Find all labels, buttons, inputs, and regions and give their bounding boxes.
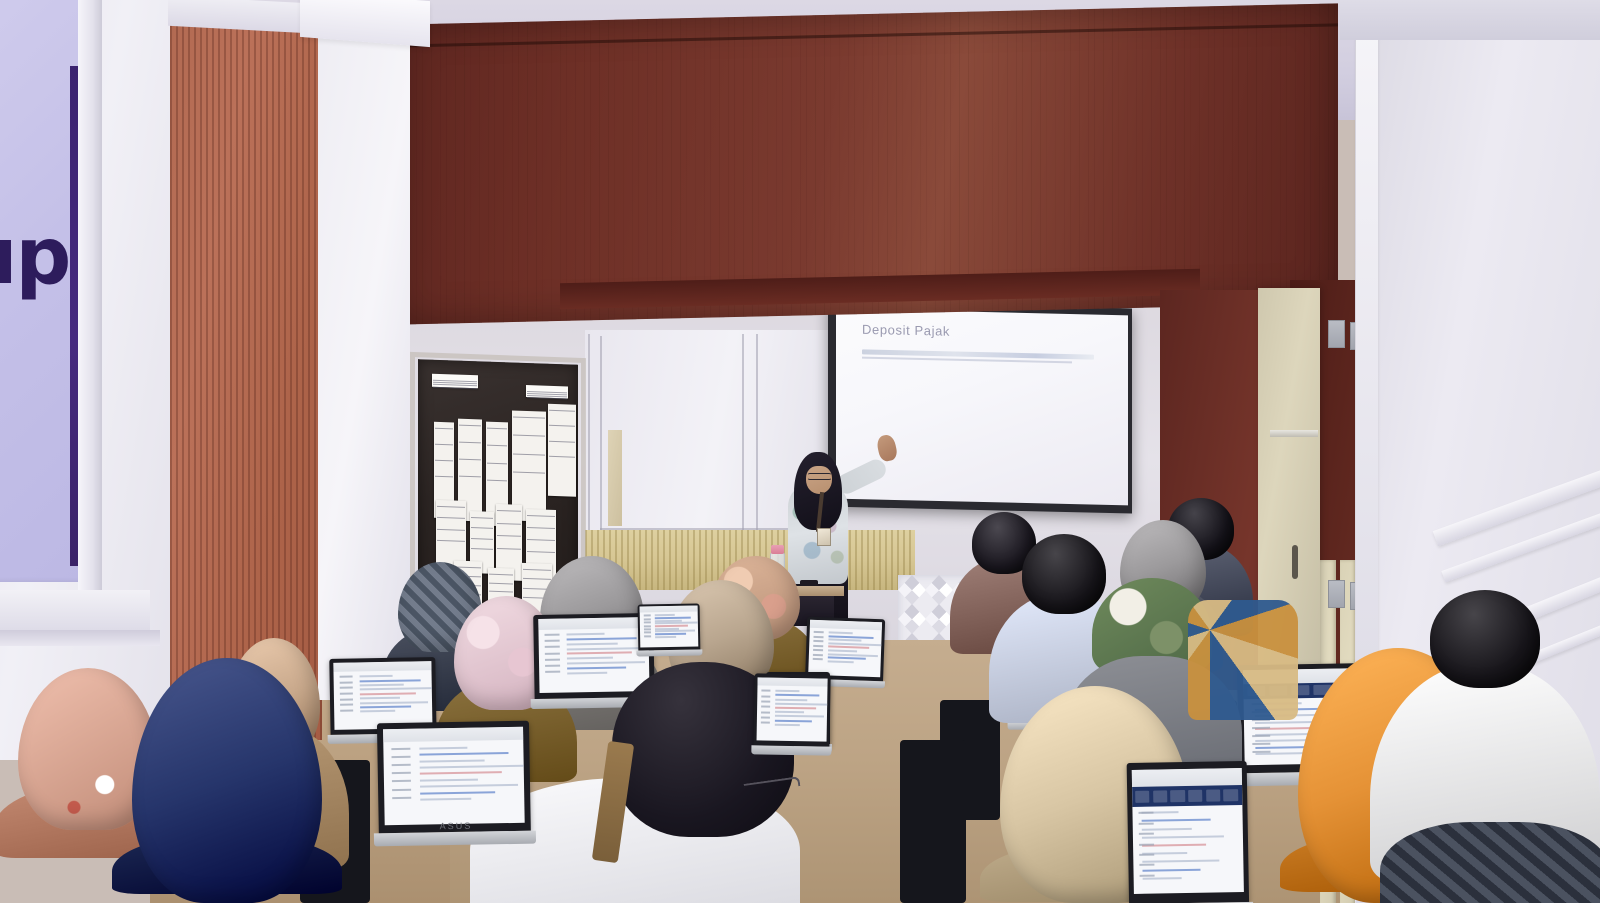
wood-grain (710, 18, 711, 318)
wood-grain (440, 24, 441, 324)
screen-text-line (360, 701, 428, 704)
screen-label-line (1139, 822, 1153, 824)
slat-groove (242, 20, 244, 740)
screen-text-line (421, 791, 495, 794)
screen-label-line (813, 654, 822, 656)
wall-strip (608, 430, 622, 526)
screen-text-line (420, 765, 524, 769)
wood-grain (518, 22, 519, 322)
browser-toolbar (538, 617, 649, 629)
slat-groove (272, 20, 274, 740)
wood-grain (944, 12, 945, 312)
navbar-tile[interactable] (1188, 790, 1203, 803)
screen-label-line (814, 635, 823, 637)
browser-toolbar (810, 620, 882, 630)
screen-label-line (1139, 843, 1153, 845)
wood-grain (1262, 5, 1263, 305)
screen-label-line (814, 631, 823, 633)
wood-grain (614, 20, 615, 320)
laptop-base[interactable] (751, 745, 832, 755)
wood-grain (1334, 3, 1335, 303)
wood-grain (1055, 10, 1056, 310)
wood-grain (752, 17, 753, 317)
participant-blue-shirt (1022, 534, 1106, 614)
wood-grain (542, 21, 543, 321)
screen-text-line (1142, 860, 1219, 863)
screen-label-line (545, 646, 559, 648)
slat-wall (170, 20, 322, 740)
wood-grain (422, 24, 423, 324)
browser-toolbar (640, 606, 697, 613)
screen-label-line (1140, 864, 1154, 866)
wood-grain (695, 18, 696, 318)
chair-back (900, 740, 966, 903)
wainscot-rib (687, 530, 689, 590)
screen-label-line (545, 658, 559, 660)
wood-grain (950, 12, 951, 312)
wood-grain (1238, 6, 1239, 306)
slat-groove (308, 20, 310, 740)
slat-groove (206, 20, 208, 740)
screen-text-line (775, 703, 827, 706)
screen-text-line (776, 694, 820, 697)
screen-label-line (1140, 854, 1154, 856)
screen-text-line (420, 747, 468, 750)
wood-grain (1232, 6, 1233, 306)
laptop-screen[interactable] (640, 606, 698, 647)
screen-label-line (761, 722, 770, 724)
app-navbar[interactable] (1132, 785, 1243, 807)
wainscot-rib (693, 530, 695, 590)
wood-grain (800, 16, 801, 316)
wood-grain (1127, 8, 1128, 308)
texture-diamond (925, 575, 953, 605)
screen-text-line (568, 667, 627, 670)
laptop-screen[interactable] (538, 617, 650, 693)
wood-grain (623, 20, 624, 320)
wood-grain (1112, 8, 1113, 308)
wood-grain (527, 22, 528, 322)
wood-grain (887, 14, 888, 314)
wainscot-rib (681, 530, 683, 590)
wainscot-rib (663, 530, 665, 590)
screen-label-line (761, 711, 770, 713)
screen-label-line (762, 695, 771, 697)
laptop[interactable] (1127, 761, 1250, 903)
slat-groove (266, 20, 268, 740)
partition-handle[interactable] (1292, 545, 1298, 579)
wood-grain (647, 19, 648, 319)
wood-grain (728, 17, 729, 317)
wood-grain (1328, 4, 1329, 304)
slat-groove (302, 20, 304, 740)
panel-line (600, 336, 602, 534)
participant-batik-blue (1188, 600, 1298, 720)
screen-label-line (340, 693, 353, 695)
wood-grain (575, 21, 576, 321)
wood-grain (839, 15, 840, 315)
wood-grain (479, 23, 480, 323)
screen-text-line (828, 639, 861, 642)
partition-trim (1270, 430, 1318, 437)
laptop-base[interactable] (636, 649, 702, 656)
wood-grain (656, 19, 657, 319)
wood-grain (1214, 6, 1215, 306)
screen-text-line (775, 711, 804, 713)
wood-grain (662, 19, 663, 319)
participant-batik-foreground (1380, 822, 1600, 903)
wood-grain (671, 18, 672, 318)
wood-grain (1007, 11, 1008, 311)
laptop-screen[interactable] (808, 620, 882, 677)
wood-grain (911, 13, 912, 313)
wood-grain (686, 18, 687, 318)
screen-label-line (1252, 726, 1270, 728)
wainscot-rib (657, 530, 659, 590)
wood-grain (1319, 4, 1320, 304)
wood-grain (848, 14, 849, 314)
screen-label-line (813, 658, 822, 660)
wood-grain (488, 23, 489, 323)
wood-grain (446, 24, 447, 324)
wood-grain (1118, 8, 1119, 308)
screen-label-line (393, 788, 411, 790)
screen-text-line (421, 798, 471, 801)
wood-grain (1094, 9, 1095, 309)
screen-text-line (775, 723, 800, 725)
screen-text-line (360, 706, 412, 709)
classroom-photo: Deposit Pajak up ASUS (0, 0, 1600, 903)
screen-label-line (644, 628, 651, 630)
right-wall-crown (1340, 0, 1600, 40)
screen-text-line (359, 688, 432, 691)
screen-text-line (568, 672, 608, 675)
panel-line (742, 334, 744, 534)
wood-grain (1079, 9, 1080, 309)
screen-label-line (392, 772, 410, 774)
wood-grain (1295, 4, 1296, 304)
wainscot-rib (669, 530, 671, 590)
wood-grain (590, 20, 591, 320)
wood-grain (1256, 5, 1257, 305)
screen-label-line (644, 625, 651, 627)
screen-text-line (775, 715, 824, 718)
wood-grain (1166, 7, 1167, 307)
screen-text-line (775, 698, 807, 701)
laptop-lid (753, 673, 830, 746)
wood-grain (632, 19, 633, 319)
slat-groove (224, 20, 226, 740)
wood-grain (854, 14, 855, 314)
wood-grain (824, 15, 825, 315)
screen-label-line (546, 671, 560, 673)
screen-label-line (761, 716, 770, 718)
wood-grain (416, 24, 417, 324)
wood-grain (1142, 8, 1143, 308)
wood-grain (806, 15, 807, 315)
wood-grain (1199, 6, 1200, 306)
wood-grain (1190, 7, 1191, 307)
screen-text-line (567, 642, 618, 645)
wood-grain (878, 14, 879, 314)
wood-grain (926, 13, 927, 313)
texture-diamond (925, 604, 953, 634)
slat-groove (218, 20, 220, 740)
screen-label-line (392, 764, 410, 766)
screen-text-line (420, 759, 484, 762)
screen-label-line (761, 706, 770, 708)
wood-grain (680, 18, 681, 318)
navbar-tile[interactable] (1206, 789, 1221, 802)
wood-grain (1103, 9, 1104, 309)
wood-grain (1151, 8, 1152, 308)
panel-line (756, 334, 758, 534)
slat-groove (254, 20, 256, 740)
laptop[interactable]: ASUS (377, 721, 531, 847)
wood-grain (791, 16, 792, 316)
slat-groove (314, 20, 316, 740)
wood-grain (470, 23, 471, 323)
wood-grain (599, 20, 600, 320)
wood-grain (1064, 10, 1065, 310)
laptop-lid (1127, 761, 1249, 903)
laptop[interactable] (753, 673, 830, 755)
slat-groove (176, 20, 178, 740)
wood-grain (512, 22, 513, 322)
wood-grain (920, 13, 921, 313)
partition-hinge (1328, 580, 1345, 608)
screen-text-line (1142, 868, 1201, 871)
screen-text-line (420, 772, 501, 775)
wainscot-rib (705, 530, 707, 590)
wainscot-rib (639, 530, 641, 590)
screen-label-line (545, 640, 559, 642)
screen-label-line (340, 704, 353, 706)
screen-text-line (1142, 835, 1225, 838)
left-wall-trim (0, 590, 150, 630)
screen-label-line (814, 645, 823, 647)
browser-toolbar (383, 726, 523, 742)
wainscot-rib (675, 530, 677, 590)
screen-label-line (1139, 812, 1153, 814)
screen-label-line (761, 700, 770, 702)
screen-label-line (393, 796, 411, 798)
banner-frame (78, 0, 102, 594)
screen-text-line (420, 778, 477, 781)
wood-grain (1184, 7, 1185, 307)
screen-label-line (392, 780, 410, 782)
screen-label-line (545, 665, 559, 667)
wood-grain (896, 13, 897, 313)
screen-text-line (359, 684, 404, 687)
screen-text-line (567, 633, 605, 636)
screen-text-line (420, 784, 518, 788)
wood-grain (734, 17, 735, 317)
slat-groove (248, 20, 250, 740)
screen-label-line (813, 649, 822, 651)
wood-grain (431, 24, 432, 324)
navbar-tile[interactable] (1224, 789, 1239, 802)
wood-grain (968, 12, 969, 312)
screen-label-line (1253, 742, 1271, 744)
participant-white-shirt-right (1430, 590, 1540, 688)
presenter-face (806, 466, 832, 494)
laptop-screen[interactable] (383, 726, 524, 825)
screen-text-line (359, 692, 416, 695)
slat-groove (290, 20, 292, 740)
wood-grain (464, 23, 465, 323)
wood-grain (863, 14, 864, 314)
screen-label-line (340, 698, 353, 700)
screen-text-line (776, 690, 800, 692)
wood-grain (1088, 9, 1089, 309)
laptop-screen[interactable] (757, 677, 828, 742)
screen-text-line (359, 675, 392, 678)
screen-label-line (1253, 750, 1271, 752)
screen-text-line (359, 679, 420, 682)
wood-grain (998, 11, 999, 311)
screen-label-line (392, 756, 410, 758)
wood-grain (1310, 4, 1311, 304)
screen-label-line (340, 681, 353, 683)
wood-grain (983, 11, 984, 311)
screen-label-line (644, 621, 651, 623)
slat-groove (188, 20, 190, 740)
browser-toolbar (1132, 768, 1243, 787)
laptop[interactable] (638, 603, 701, 656)
wood-grain (551, 21, 552, 321)
screen-label-line (644, 635, 651, 637)
slat-groove (182, 20, 184, 740)
screen-text-line (655, 636, 676, 638)
screen-label-line (340, 687, 353, 689)
wood-grain (1136, 8, 1137, 308)
screen-text-line (827, 660, 853, 663)
screen-text-line (567, 657, 612, 660)
partition-hinge (1328, 320, 1345, 348)
water-bottle-cap (771, 545, 784, 554)
screen-label-line (1140, 874, 1154, 876)
wood-grain (872, 14, 873, 314)
wood-grain (815, 15, 816, 315)
wood-grain (560, 21, 561, 321)
slat-groove (278, 20, 280, 740)
wood-grain (1247, 5, 1248, 305)
slat-groove (236, 20, 238, 740)
wood-grain (1022, 10, 1023, 310)
white-column (318, 0, 410, 700)
screen-text-line (1141, 828, 1192, 831)
wood-grain (536, 22, 537, 322)
panel-line (588, 334, 590, 534)
screen-label-line (392, 748, 410, 750)
slat-groove (194, 20, 196, 740)
screen-text-line (828, 649, 857, 652)
banner-text: up (0, 222, 82, 294)
id-badge (817, 528, 831, 546)
screen-text-line (775, 707, 816, 710)
wood-grain (1271, 5, 1272, 305)
slat-groove (296, 20, 298, 740)
wood-grain (758, 16, 759, 316)
laptop-lid (638, 603, 701, 650)
wood-grain (743, 17, 744, 317)
slat-groove (212, 20, 214, 740)
left-wall-trim-lower (0, 630, 160, 646)
wood-grain (1031, 10, 1032, 310)
browser-toolbar (334, 661, 432, 672)
screen-label-line (644, 632, 651, 634)
slat-groove (284, 20, 286, 740)
wood-grain (566, 21, 567, 321)
wainscot-rib (645, 530, 647, 590)
wood-grain (455, 23, 456, 323)
screen-text-line (828, 631, 852, 634)
screen-label-line (762, 690, 771, 692)
browser-toolbar (758, 677, 828, 687)
screen-text-line (1142, 877, 1182, 880)
screen-text-line (360, 710, 395, 713)
screen-label-line (814, 640, 823, 642)
slat-groove (170, 20, 172, 740)
screen-label-line (545, 652, 559, 654)
laptop-lid: ASUS (377, 721, 531, 834)
wood-grain (1208, 6, 1209, 306)
wood-grain (1304, 4, 1305, 304)
screen-text-line (420, 752, 508, 756)
wood-grain (992, 11, 993, 311)
wood-grain (1046, 10, 1047, 310)
remote-control[interactable] (800, 580, 818, 586)
wood-grain (1223, 6, 1224, 306)
wood-grain (704, 18, 705, 318)
navbar-tile[interactable] (1135, 791, 1150, 804)
laptop-screen[interactable] (1132, 768, 1245, 894)
navbar-tile[interactable] (1171, 790, 1186, 803)
laptop-brand-label: ASUS (439, 820, 472, 831)
wood-grain (974, 12, 975, 312)
laptop-screen[interactable] (334, 661, 433, 730)
screen-label-line (1139, 833, 1153, 835)
slat-groove (260, 20, 262, 740)
screen-text-line (567, 652, 631, 655)
wood-grain (959, 12, 960, 312)
wood-grain (767, 16, 768, 316)
screen-text-line (775, 719, 812, 722)
navbar-tile[interactable] (1153, 790, 1168, 803)
screen-label-line (644, 615, 651, 617)
wood-grain (719, 17, 720, 317)
screen-label-line (340, 709, 353, 711)
wood-grain (608, 20, 609, 320)
wood-grain (584, 20, 585, 320)
wainscot-rib (699, 530, 701, 590)
glasses-icon (807, 473, 832, 480)
screen-label-line (545, 634, 559, 636)
wood-grain (1175, 7, 1176, 307)
wood-grain (1286, 4, 1287, 304)
wood-grain (1280, 5, 1281, 305)
wood-grain (776, 16, 777, 316)
screen-text-line (567, 637, 637, 640)
wood-grain (902, 13, 903, 313)
wood-grain (782, 16, 783, 316)
wood-grain (503, 22, 504, 322)
wood-grain (1040, 10, 1041, 310)
wood-grain (638, 19, 639, 319)
screen-text-line (568, 661, 645, 664)
screen-label-line (1252, 734, 1270, 736)
